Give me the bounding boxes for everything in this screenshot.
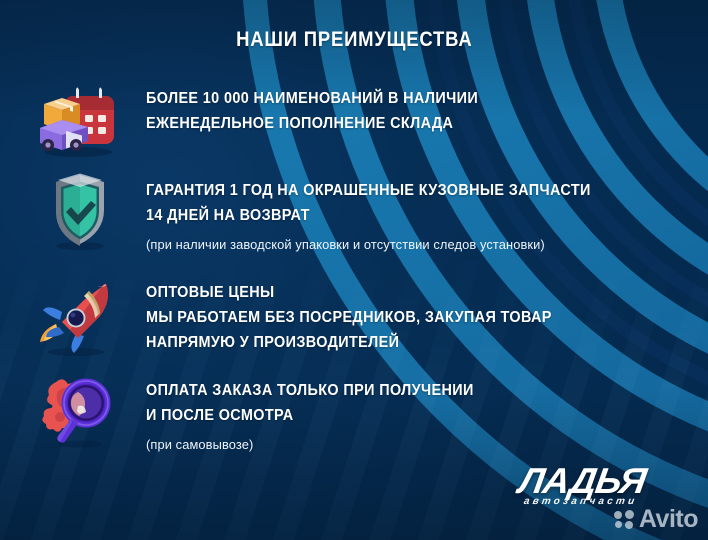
feature-note: (при наличии заводской упаковки и отсутс… [146, 234, 619, 256]
feature-line: БОЛЕЕ 10 000 НАИМЕНОВАНИЙ В НАЛИЧИИ [146, 86, 478, 111]
shield-check-icon [36, 166, 128, 258]
feature-line: НАПРЯМУЮ У ПРОИЗВОДИТЕЛЕЙ [146, 330, 552, 355]
feature-line: ОПЛАТА ЗАКАЗА ТОЛЬКО ПРИ ПОЛУЧЕНИИ [146, 378, 474, 403]
brand-subtitle: автозапчасти [519, 496, 638, 507]
brand-name: ЛАДЬЯ [516, 464, 647, 498]
feature-line: 14 ДНЕЙ НА ВОЗВРАТ [146, 203, 591, 228]
feature-text-1: ГАРАНТИЯ 1 ГОД НА ОКРАШЕННЫЕ КУЗОВНЫЕ ЗА… [146, 178, 624, 256]
feature-line: ГАРАНТИЯ 1 ГОД НА ОКРАШЕННЫЕ КУЗОВНЫЕ ЗА… [146, 178, 591, 203]
feature-line: ЕЖЕНЕДЕЛЬНОЕ ПОПОЛНЕНИЕ СКЛАДА [146, 111, 478, 136]
avito-wordmark: Avito [639, 507, 698, 532]
delivery-truck-calendar-icon [30, 72, 122, 164]
rocket-icon [32, 272, 124, 364]
feature-text-2: ОПТОВЫЕ ЦЕНЫ МЫ РАБОТАЕМ БЕЗ ПОСРЕДНИКОВ… [146, 280, 582, 355]
promo-banner: НАШИ ПРЕИМУЩЕСТВА [0, 0, 708, 540]
avito-watermark: Avito [614, 507, 698, 532]
feature-line: И ПОСЛЕ ОСМОТРА [146, 403, 474, 428]
feature-line: МЫ РАБОТАЕМ БЕЗ ПОСРЕДНИКОВ, ЗАКУПАЯ ТОВ… [146, 305, 552, 330]
avito-dots-icon [614, 510, 636, 530]
feature-note: (при самовывозе) [146, 434, 495, 456]
banner-header: НАШИ ПРЕИМУЩЕСТВА [0, 28, 708, 52]
page-title: НАШИ ПРЕИМУЩЕСТВА [236, 28, 472, 52]
feature-text-0: БОЛЕЕ 10 000 НАИМЕНОВАНИЙ В НАЛИЧИИ ЕЖЕН… [146, 86, 503, 136]
feature-text-3: ОПЛАТА ЗАКАЗА ТОЛЬКО ПРИ ПОЛУЧЕНИИ И ПОС… [146, 378, 498, 456]
brand-logo[interactable]: ЛАДЬЯ автозапчасти [519, 464, 642, 507]
magnifier-gear-icon [34, 362, 126, 454]
feature-line: ОПТОВЫЕ ЦЕНЫ [146, 280, 552, 305]
